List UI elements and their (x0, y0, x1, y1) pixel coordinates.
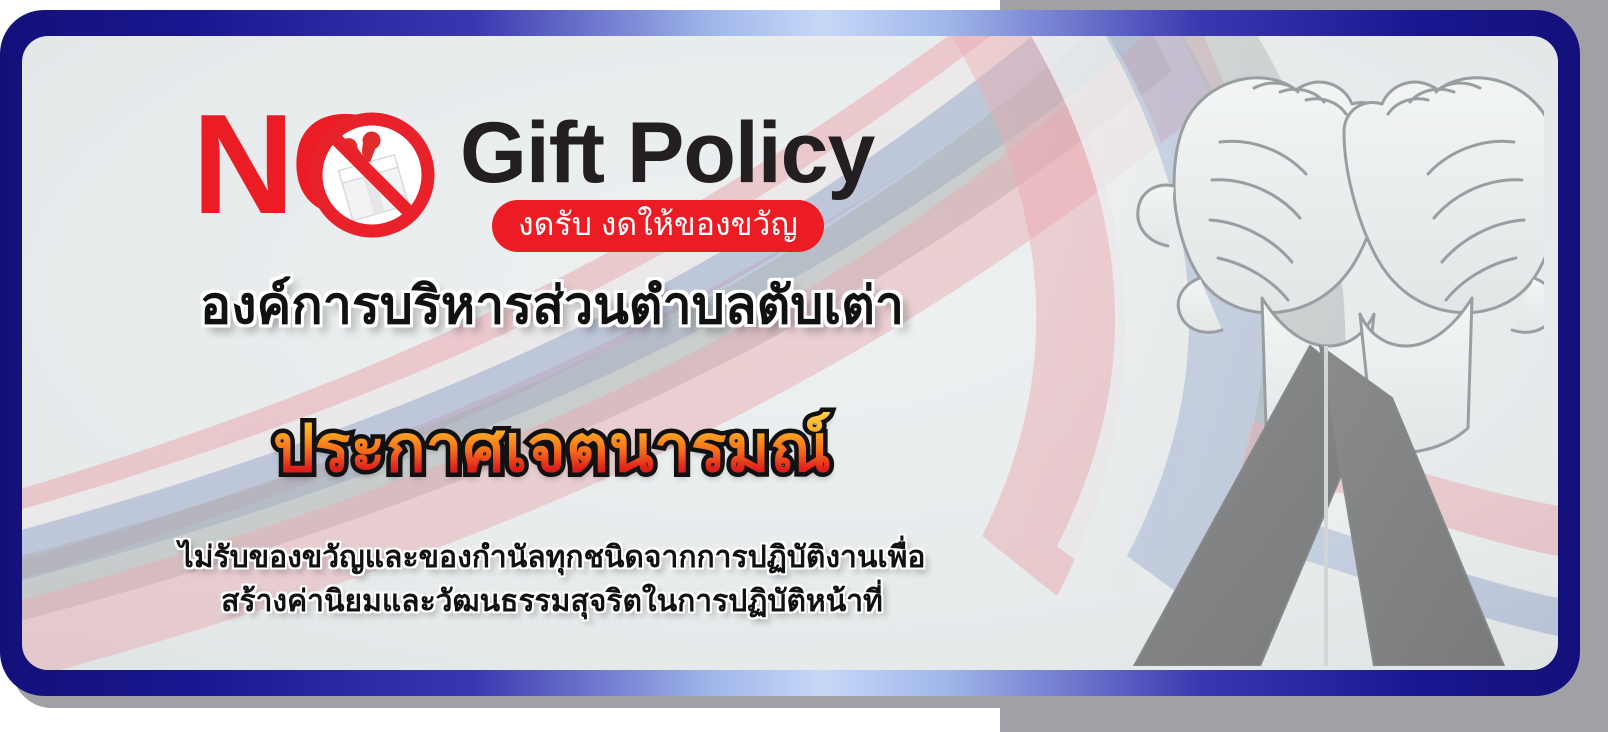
crossed-fists-icon (1074, 46, 1544, 666)
declaration-headline: ประกาศเจตนารมณ์ ประกาศเจตนารมณ์ (273, 408, 831, 488)
body-copy: ไม่รับของขวัญและของกำนัลทุกชนิดจากการปฏิ… (22, 536, 1082, 624)
body-line-1: ไม่รับของขวัญและของกำนัลทุกชนิดจากการปฏิ… (22, 536, 1082, 580)
body-line-2: สร้างค่านิยมและวัฒนธรรมสุจริตในการปฏิบัต… (22, 580, 1082, 624)
no-gift-policy-poster: NO Gift Policy งดรับ งดให้ของขวัญ (0, 10, 1580, 696)
organization-name: องค์การบริหารส่วนตำบลตับเต่า (22, 276, 1082, 336)
no-gift-icon (307, 110, 437, 240)
headline-container: ประกาศเจตนารมณ์ ประกาศเจตนารมณ์ (22, 408, 1082, 488)
poster-header: NO Gift Policy งดรับ งดให้ของขวัญ (192, 94, 952, 244)
no-gift-badge: งดรับ งดให้ของขวัญ (492, 200, 824, 252)
poster-inner-canvas: NO Gift Policy งดรับ งดให้ของขวัญ (22, 36, 1558, 670)
gift-policy-title: Gift Policy (460, 108, 874, 198)
headline-fill: ประกาศเจตนารมณ์ (273, 411, 831, 485)
